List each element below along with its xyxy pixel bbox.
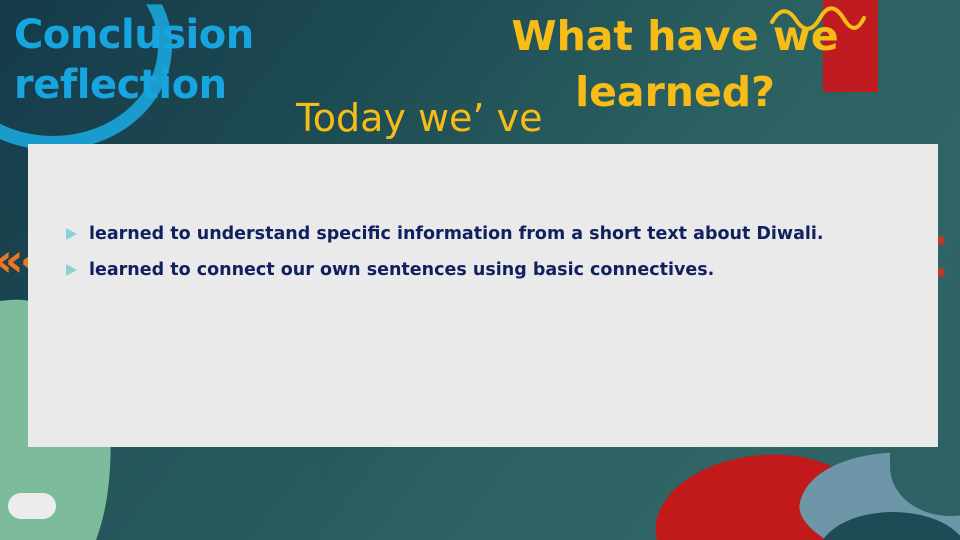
white-pill-decoration xyxy=(8,493,56,519)
presentation-slide: ««« Conclusion reflection What have we l… xyxy=(0,0,960,540)
list-item-text: learned to understand specific informati… xyxy=(89,224,824,244)
list-item: learned to understand specific informati… xyxy=(62,222,904,246)
slide-title-left: Conclusion reflection xyxy=(14,10,344,110)
bullet-list: learned to understand specific informati… xyxy=(62,222,904,282)
slide-subtitle: Today we’ ve xyxy=(296,96,542,140)
triangle-right-icon xyxy=(66,228,77,240)
red-blob-decoration xyxy=(651,448,875,540)
triangle-right-icon xyxy=(66,264,77,276)
dark-notch-secondary-decoration xyxy=(818,512,960,540)
blue-wave-decoration xyxy=(791,433,960,540)
content-card: learned to understand specific informati… xyxy=(28,144,938,447)
dark-notch-decoration xyxy=(890,438,960,516)
list-item: learned to connect our own sentences usi… xyxy=(62,258,904,282)
blue-wave-secondary-decoration xyxy=(905,500,960,540)
list-item-text: learned to connect our own sentences usi… xyxy=(89,260,714,280)
